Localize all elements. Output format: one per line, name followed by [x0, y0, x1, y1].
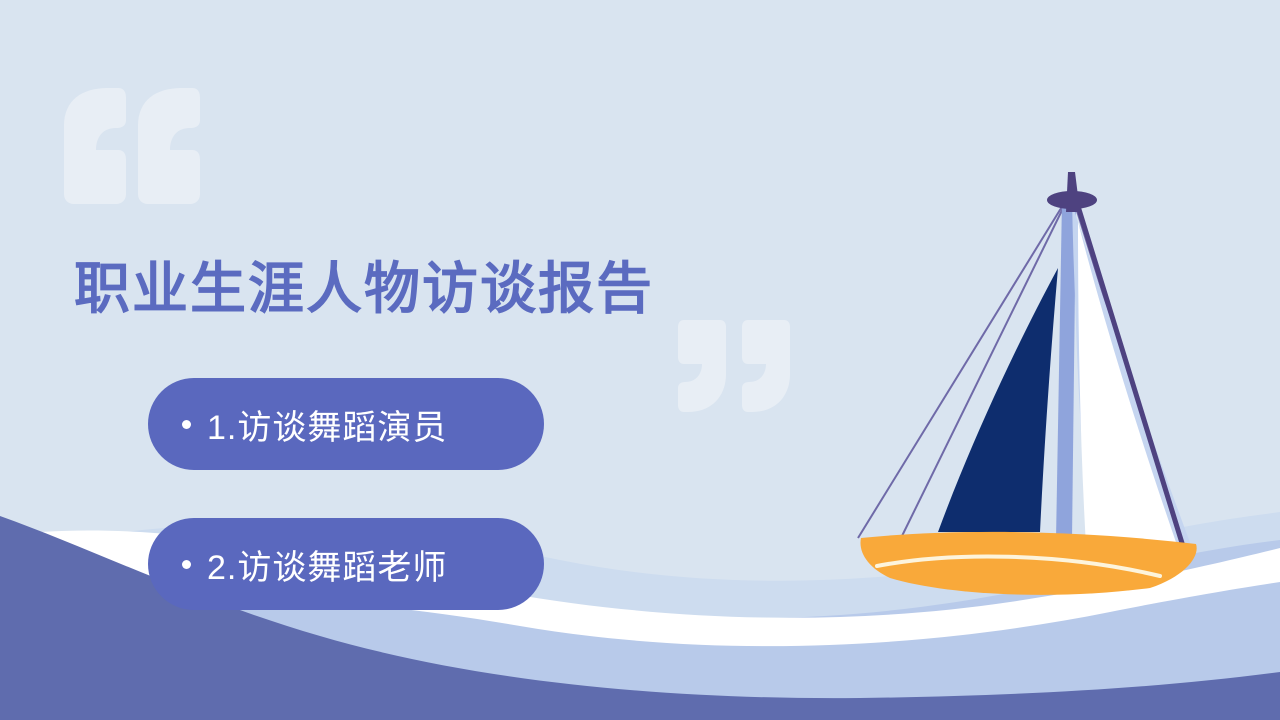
masthead-spreader	[1047, 191, 1097, 209]
agenda-item-1[interactable]: 1.访谈舞蹈演员	[148, 378, 544, 470]
quote-open-icon	[56, 86, 206, 206]
quote-close-glyph	[678, 320, 790, 412]
bullet-icon	[182, 420, 191, 429]
quote-open-glyph	[64, 88, 200, 204]
agenda-item-2-label: 2.访谈舞蹈老师	[207, 540, 447, 589]
mast-stay-dark	[1073, 190, 1186, 556]
mainsail-shade-outer	[1074, 210, 1192, 556]
agenda-item-1-label: 1.访谈舞蹈演员	[207, 400, 447, 449]
rigging-lines	[858, 192, 1185, 556]
boat-hull	[860, 532, 1196, 595]
bullet-icon	[182, 560, 191, 569]
mast-light	[1056, 200, 1076, 540]
hull-highlight	[877, 557, 1160, 576]
mainsail-shade	[1072, 196, 1144, 553]
jib-sail	[938, 268, 1058, 532]
mast-dark	[1066, 172, 1080, 212]
page-title: 职业生涯人物访谈报告	[74, 244, 654, 325]
quote-close-icon	[676, 318, 796, 414]
mainsail-white	[1078, 222, 1178, 553]
agenda-item-2[interactable]: 2.访谈舞蹈老师	[148, 518, 544, 610]
slide-canvas: 职业生涯人物访谈报告 1.访谈舞蹈演员 2.访谈舞蹈老师	[0, 0, 1280, 720]
